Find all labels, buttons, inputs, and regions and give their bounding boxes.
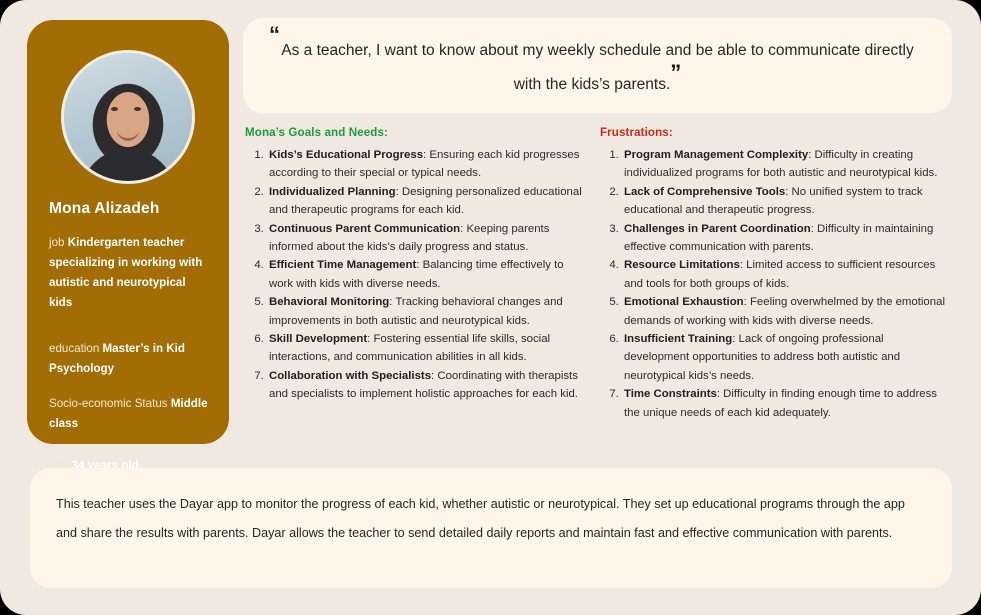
goal-term: Collaboration with Specialists [269,370,431,382]
persona-page: Mona Alizadeh job Kindergarten teacher s… [0,0,981,615]
list-item: Resource Limitations: Limited access to … [622,256,950,293]
profile-field-label: Socio-economic Status [49,397,168,410]
list-item: Time Constraints: Difficulty in finding … [622,385,950,422]
profile-field-label: job [49,236,64,249]
profile-field-education: education Master’s in Kid Psychology [49,339,209,379]
persona-quote-card: “ As a teacher, I want to know about my … [243,18,952,113]
frustration-term: Program Management Complexity [624,149,808,161]
list-item: Insufficient Training: Lack of ongoing p… [622,330,950,385]
list-item: Emotional Exhaustion: Feeling overwhelme… [622,293,950,330]
frustrations-heading: Frustrations: [600,126,950,139]
avatar-eye-left [111,107,118,111]
avatar-photo-icon [64,53,192,181]
frustration-term: Lack of Comprehensive Tools [624,186,785,198]
avatar [61,50,195,184]
persona-summary-card: This teacher uses the Dayar app to monit… [30,468,952,588]
list-item: Individualized Planning: Designing perso… [267,183,583,220]
list-item: Efficient Time Management: Balancing tim… [267,256,583,293]
profile-field-job: job Kindergarten teacher specializing in… [49,233,209,313]
list-item: Continuous Parent Communication: Keeping… [267,220,583,257]
persona-summary-text: This teacher uses the Dayar app to monit… [56,490,926,548]
list-item: Program Management Complexity: Difficult… [622,146,950,183]
list-item: Collaboration with Specialists: Coordina… [267,367,583,404]
persona-quote: “ As a teacher, I want to know about my … [261,34,934,102]
quote-line-1: As a teacher, I want to know about my we… [281,42,860,59]
list-item: Behavioral Monitoring: Tracking behavior… [267,293,583,330]
goals-heading: Mona’s Goals and Needs: [245,126,583,139]
list-item: Challenges in Parent Coordination: Diffi… [622,220,950,257]
goal-term: Individualized Planning [269,186,396,198]
goals-section: Mona’s Goals and Needs: Kids’s Education… [243,126,583,404]
frustrations-section: Frustrations: Program Management Complex… [598,126,950,422]
list-item: Kids’s Educational Progress: Ensuring ea… [267,146,583,183]
frustration-term: Emotional Exhaustion [624,296,744,308]
list-item: Lack of Comprehensive Tools: No unified … [622,183,950,220]
goals-list: Kids’s Educational Progress: Ensuring ea… [243,146,583,404]
frustration-term: Insufficient Training [624,333,732,345]
frustrations-list: Program Management Complexity: Difficult… [598,146,950,422]
goal-term: Behavioral Monitoring [269,296,389,308]
goal-term: Continuous Parent Communication [269,223,460,235]
persona-name: Mona Alizadeh [49,200,209,218]
quote-close-mark: ” [670,60,681,85]
frustration-term: Challenges in Parent Coordination [624,223,811,235]
profile-field-label: education [49,342,99,355]
frustration-term: Time Constraints [624,388,717,400]
quote-open-mark: “ [269,24,280,46]
goal-term: Kids’s Educational Progress [269,149,423,161]
persona-profile-card: Mona Alizadeh job Kindergarten teacher s… [27,20,229,444]
avatar-eye-right [134,107,141,111]
profile-field-value: Kindergarten teacher specializing in wor… [49,236,202,309]
goal-term: Skill Development [269,333,367,345]
frustration-term: Resource Limitations [624,259,740,271]
goal-term: Efficient Time Management [269,259,416,271]
profile-field-socioeconomic-status: Socio-economic Status Middle class [49,394,209,434]
list-item: Skill Development: Fostering essential l… [267,330,583,367]
